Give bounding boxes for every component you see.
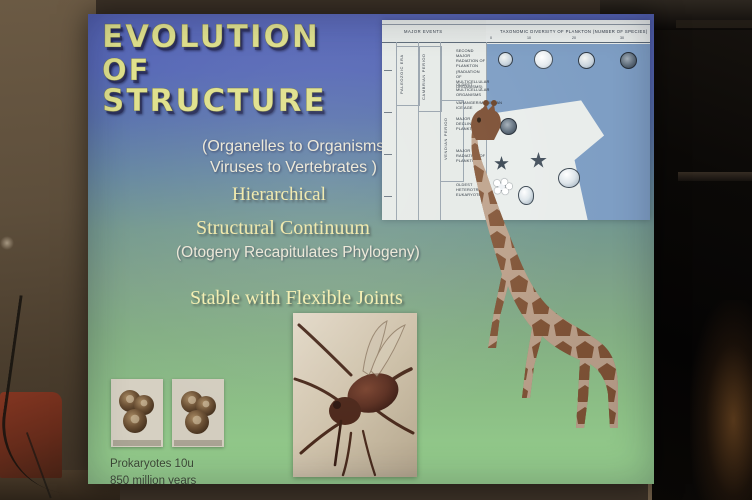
room-shelf-lower	[678, 172, 752, 181]
plankton-fossil-icon	[534, 50, 553, 69]
prokaryote-micrograph-left	[111, 379, 163, 447]
chart-era-paleozoic: PALEOZOIC ERA	[399, 48, 404, 100]
chart-event-2: OLDEST MULTICELLULAR ORGANISMS	[456, 82, 486, 97]
subtitle-stable-flexible-joints: Stable with Flexible Joints	[190, 287, 403, 310]
slide-caption: Prokaryotes 10u 850 million years	[110, 456, 196, 484]
subtitle-structural-continuum: Structural Continuum	[196, 217, 370, 240]
caption-line-age: 850 million years	[110, 473, 196, 484]
chart-title: TAXONOMIC DIVERSITY OF PLANKTON (NUMBER …	[500, 29, 648, 34]
prokaryote-micrograph-right	[172, 379, 224, 447]
projected-slide: EVOLUTION OF STRUCTURE (Organelles to Or…	[88, 14, 654, 484]
chart-axis-mark	[384, 196, 392, 197]
chart-events-header: MAJOR EVENTS	[404, 29, 443, 34]
micrograph-scale-bar	[113, 440, 161, 446]
subtitle-otogeny: (Otogeny Recapitulates Phylogeny)	[176, 244, 420, 262]
subtitle-viruses: Viruses to Vertebrates )	[210, 159, 377, 177]
caption-line-prokaryotes: Prokaryotes 10u	[110, 456, 196, 473]
chart-era-cambrian: CAMBRIAN PERIOD	[421, 48, 426, 106]
plankton-fossil-icon	[620, 52, 637, 69]
screenshot-root: EVOLUTION OF STRUCTURE (Organelles to Or…	[0, 0, 752, 500]
room-warm-glow	[690, 300, 752, 500]
micrograph-scale-bar	[174, 440, 222, 446]
plankton-fossil-icon	[578, 52, 595, 69]
wall-highlight	[0, 236, 14, 250]
chart-top-rule	[382, 24, 650, 25]
chart-header-rule	[382, 42, 650, 43]
chart-xtick-0: 0	[490, 36, 492, 40]
chart-xtick-1: 10	[527, 36, 531, 40]
chart-axis-mark	[384, 154, 392, 155]
giraffe-figure	[442, 98, 632, 458]
room-shelf-upper	[676, 20, 752, 28]
plankton-fossil-icon	[498, 52, 513, 67]
chart-xtick-2: 20	[572, 36, 576, 40]
mosquito-photo	[293, 313, 417, 477]
chart-axis-mark	[384, 112, 392, 113]
subtitle-organelles: (Organelles to Organisms,	[202, 138, 389, 156]
chart-xtick-3: 30	[620, 36, 624, 40]
chart-axis-mark	[384, 70, 392, 71]
subtitle-hierarchical: Hierarchical	[232, 184, 326, 206]
